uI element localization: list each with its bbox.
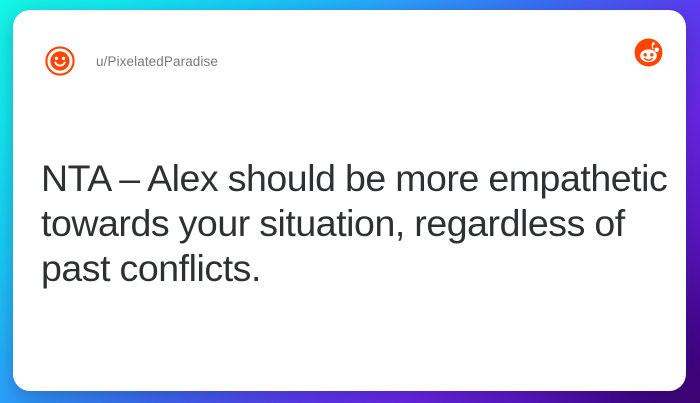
username-label: u/PixelatedParadise [96, 54, 218, 69]
reddit-comment-card: u/PixelatedParadise NTA – Alex should [13, 10, 686, 391]
avatar[interactable] [45, 46, 75, 76]
comment-body-text: NTA – Alex should be more empathetic tow… [41, 156, 669, 291]
reddit-logo[interactable] [634, 38, 663, 67]
screenshot-canvas: u/PixelatedParadise NTA – Alex should [0, 0, 700, 403]
comment-header: u/PixelatedParadise [13, 10, 686, 102]
reddit-snoo-logo-icon [634, 38, 663, 67]
smiley-face-avatar-icon [45, 46, 75, 76]
